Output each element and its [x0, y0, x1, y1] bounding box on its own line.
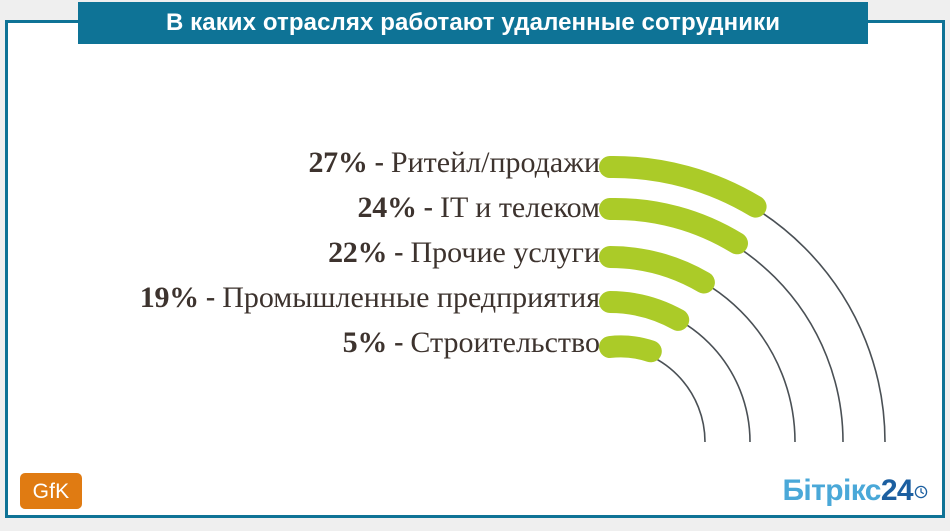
separator-construction: -	[387, 327, 410, 359]
separator-industrial: -	[199, 282, 222, 314]
guide-arc-1	[610, 347, 705, 442]
arc-bar-it-telecom	[610, 209, 737, 243]
title-bar: В каких отраслях работают удаленные сотр…	[78, 2, 868, 44]
gfk-logo: GfK	[20, 473, 82, 509]
arc-bars	[610, 167, 756, 351]
label-list: 27% - Ритейл/продажи 24% - IT и телеком …	[0, 140, 600, 365]
clock-icon	[914, 485, 928, 503]
value-it-telecom: 24%	[358, 191, 417, 225]
category-it-telecom: IT и телеком	[440, 191, 600, 225]
bitrix24-logo: Бітрікс 24	[782, 476, 928, 506]
separator-retail: -	[368, 147, 391, 179]
separator-other-services: -	[387, 237, 410, 269]
gfk-logo-text: GfK	[33, 481, 70, 502]
label-row-industrial: 19% - Промышленные предприятия	[0, 275, 600, 320]
value-other-services: 22%	[328, 236, 387, 270]
label-row-it-telecom: 24% - IT и телеком	[0, 185, 600, 230]
category-industrial: Промышленные предприятия	[222, 281, 600, 315]
value-industrial: 19%	[140, 281, 199, 315]
arc-bar-other-services	[610, 257, 704, 283]
category-retail: Ритейл/продажи	[391, 146, 600, 180]
separator-it-telecom: -	[417, 192, 440, 224]
bitrix24-number: 24	[881, 476, 913, 506]
category-construction: Строительство	[410, 326, 600, 360]
arc-bar-industrial	[610, 302, 678, 320]
value-construction: 5%	[343, 326, 387, 360]
infographic-root: В каких отраслях работают удаленные сотр…	[0, 0, 950, 531]
arc-bar-construction	[610, 346, 651, 351]
label-row-construction: 5% - Строительство	[0, 320, 600, 365]
bitrix24-wordmark: Бітрікс	[782, 476, 880, 506]
value-retail: 27%	[308, 146, 367, 180]
label-row-retail: 27% - Ритейл/продажи	[0, 140, 600, 185]
category-other-services: Прочие услуги	[411, 236, 601, 270]
label-row-other-services: 22% - Прочие услуги	[0, 230, 600, 275]
page-title: В каких отраслях работают удаленные сотр…	[166, 11, 780, 35]
